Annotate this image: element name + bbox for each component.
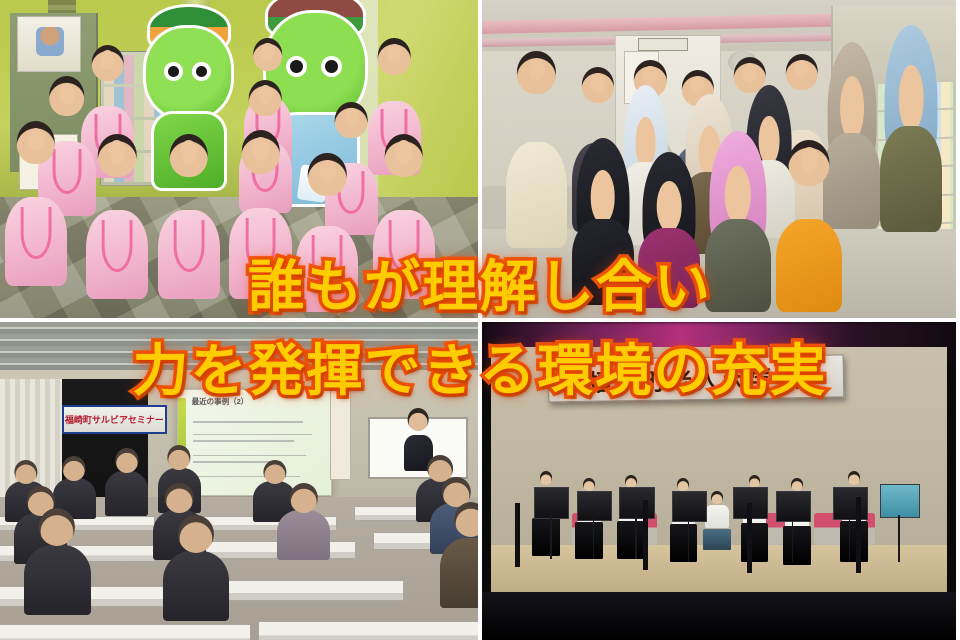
ceiling-panels: [0, 322, 478, 376]
person-head: [385, 134, 424, 177]
festival-banner: 福崎町老人大学祭: [548, 354, 845, 402]
performer-head: [848, 471, 860, 484]
olive-vest: [880, 126, 942, 232]
music-stand-pole: [849, 517, 851, 562]
person-hijab: [880, 35, 942, 232]
lanyard: [173, 220, 204, 273]
magenta-jacket: [638, 228, 700, 309]
mascot-eye: [168, 66, 179, 77]
person-hijab: [572, 146, 634, 305]
performer-head: [540, 471, 552, 484]
attendee: [277, 510, 330, 561]
photo-bottom-right-stage-performance: 福崎町老人大学祭: [482, 322, 956, 640]
person-face: [591, 73, 605, 93]
person-pink-vest: [296, 153, 358, 312]
attendee-head: [165, 483, 193, 513]
performer-top: [705, 505, 729, 528]
music-stand-plate: [776, 491, 811, 522]
slide-text-line: [193, 434, 312, 436]
music-stand-pole: [898, 515, 900, 562]
photo-bottom-left-seminar: 福崎町サルビアセミナー 最近の事例（2）: [0, 322, 478, 640]
microphone-stand: [643, 500, 648, 570]
attendee: [163, 551, 230, 621]
person-face: [27, 128, 44, 151]
music-stand-plate: [619, 487, 654, 518]
person-head: [253, 38, 283, 71]
attendee: [440, 538, 478, 608]
person-young-woman: [776, 140, 842, 312]
attendee-head: [289, 483, 317, 513]
person-pink-vest: [5, 121, 67, 286]
desk-row: [210, 580, 403, 601]
music-stand: [577, 491, 610, 558]
microphone-stand: [747, 503, 752, 573]
black-jacket: [572, 219, 634, 305]
desk-row: [258, 621, 478, 640]
mascot-head: [143, 25, 234, 121]
festival-banner-text: 福崎町老人大学祭: [588, 360, 805, 398]
wall-poster: [17, 16, 81, 72]
person-head: [98, 134, 137, 177]
music-stand-pole: [688, 519, 690, 562]
door-sign: [638, 38, 687, 51]
poster-figure: [36, 27, 64, 57]
person-face: [691, 76, 705, 96]
person-face: [252, 137, 269, 160]
music-stand-plate: [534, 487, 569, 518]
person-head: [335, 102, 368, 139]
slide-title: 最近の事例（2）: [192, 396, 249, 407]
person-head: [249, 80, 282, 117]
person-face: [643, 66, 657, 86]
person-face: [528, 58, 545, 81]
right-edge-margin: [956, 0, 960, 640]
music-stand-pole: [792, 519, 794, 562]
vertical-poster: [330, 382, 351, 479]
attendee-head: [178, 515, 214, 553]
desk-row: [0, 624, 251, 640]
performer-head: [625, 475, 637, 488]
person-face: [261, 43, 274, 61]
performer-head: [583, 478, 595, 491]
presenter-head: [408, 408, 429, 431]
person-head: [308, 153, 347, 196]
person-hijab: [705, 140, 771, 312]
music-stand: [672, 491, 705, 561]
person-pink-vest: [229, 130, 291, 299]
music-stand-pole: [550, 515, 552, 558]
person-head: [517, 51, 555, 94]
music-stand: [880, 484, 918, 560]
photo-top-left-lobby-group: 受付: [0, 0, 478, 318]
music-stand-plate: [577, 491, 612, 521]
attendee: [24, 545, 91, 615]
music-stand-plate: [880, 484, 920, 518]
performer-head: [711, 491, 723, 504]
person-face: [109, 140, 126, 163]
person-head: [378, 38, 411, 75]
person-face: [387, 44, 401, 64]
mascot-eye: [290, 60, 303, 73]
music-stand-plate: [672, 491, 707, 522]
person-face: [591, 170, 616, 224]
performer-trousers: [703, 529, 731, 551]
music-stand: [776, 491, 809, 561]
mascot-eye: [196, 66, 207, 77]
person-face: [59, 83, 75, 105]
person-face: [840, 76, 864, 140]
person-face: [344, 108, 358, 128]
person-pink-vest: [86, 134, 148, 299]
person-head: [170, 134, 209, 177]
audience-area: [482, 592, 956, 640]
lanyard: [388, 220, 419, 273]
person-head: [17, 121, 56, 164]
lanyard: [312, 235, 343, 286]
attendee: [105, 471, 148, 516]
seminar-banner: 福崎町サルビアセミナー: [62, 405, 166, 434]
person-face: [743, 63, 757, 83]
person-pink-vest: [373, 134, 435, 299]
person-head: [49, 76, 85, 116]
person-head: [582, 67, 614, 103]
person-head: [788, 140, 829, 186]
person-face: [800, 147, 818, 172]
person-head: [786, 54, 818, 90]
music-stand-plate: [833, 487, 868, 520]
microphone-stand: [515, 503, 520, 567]
music-stand: [534, 487, 567, 557]
person-face: [180, 140, 197, 163]
person-hijab: [638, 159, 700, 308]
lanyard: [245, 218, 276, 272]
mascot-eye: [325, 60, 338, 73]
music-stand-pole: [635, 515, 637, 558]
lanyard: [20, 207, 51, 260]
performer-head: [677, 478, 689, 491]
slide-text-line: [193, 440, 294, 442]
performer-head: [749, 475, 761, 488]
person-face: [395, 140, 412, 163]
person-head: [91, 45, 124, 82]
person-face: [657, 181, 682, 232]
music-stand-pole: [593, 517, 595, 558]
person-face: [725, 166, 752, 224]
person-face: [899, 65, 924, 132]
person-face: [319, 160, 336, 183]
slide-text-line: [193, 421, 303, 423]
projection-screen: 最近の事例（2）: [177, 389, 332, 496]
orange-top: [776, 219, 842, 312]
photo-collage: 受付: [0, 0, 960, 640]
olive-jacket: [705, 219, 771, 312]
person-face: [100, 50, 114, 70]
floral-apron: [506, 142, 568, 248]
lanyard: [102, 220, 133, 273]
photo-top-right-multicultural-group: [482, 0, 956, 318]
microphone-stand: [856, 497, 861, 573]
performer-head: [791, 478, 803, 491]
person-pink-vest: [158, 134, 220, 299]
person-head: [241, 130, 280, 173]
person-face: [258, 85, 272, 105]
slide-text-line: [193, 455, 306, 457]
person-face: [795, 60, 809, 80]
attendee-head: [39, 508, 75, 546]
person-apron: [506, 51, 568, 248]
